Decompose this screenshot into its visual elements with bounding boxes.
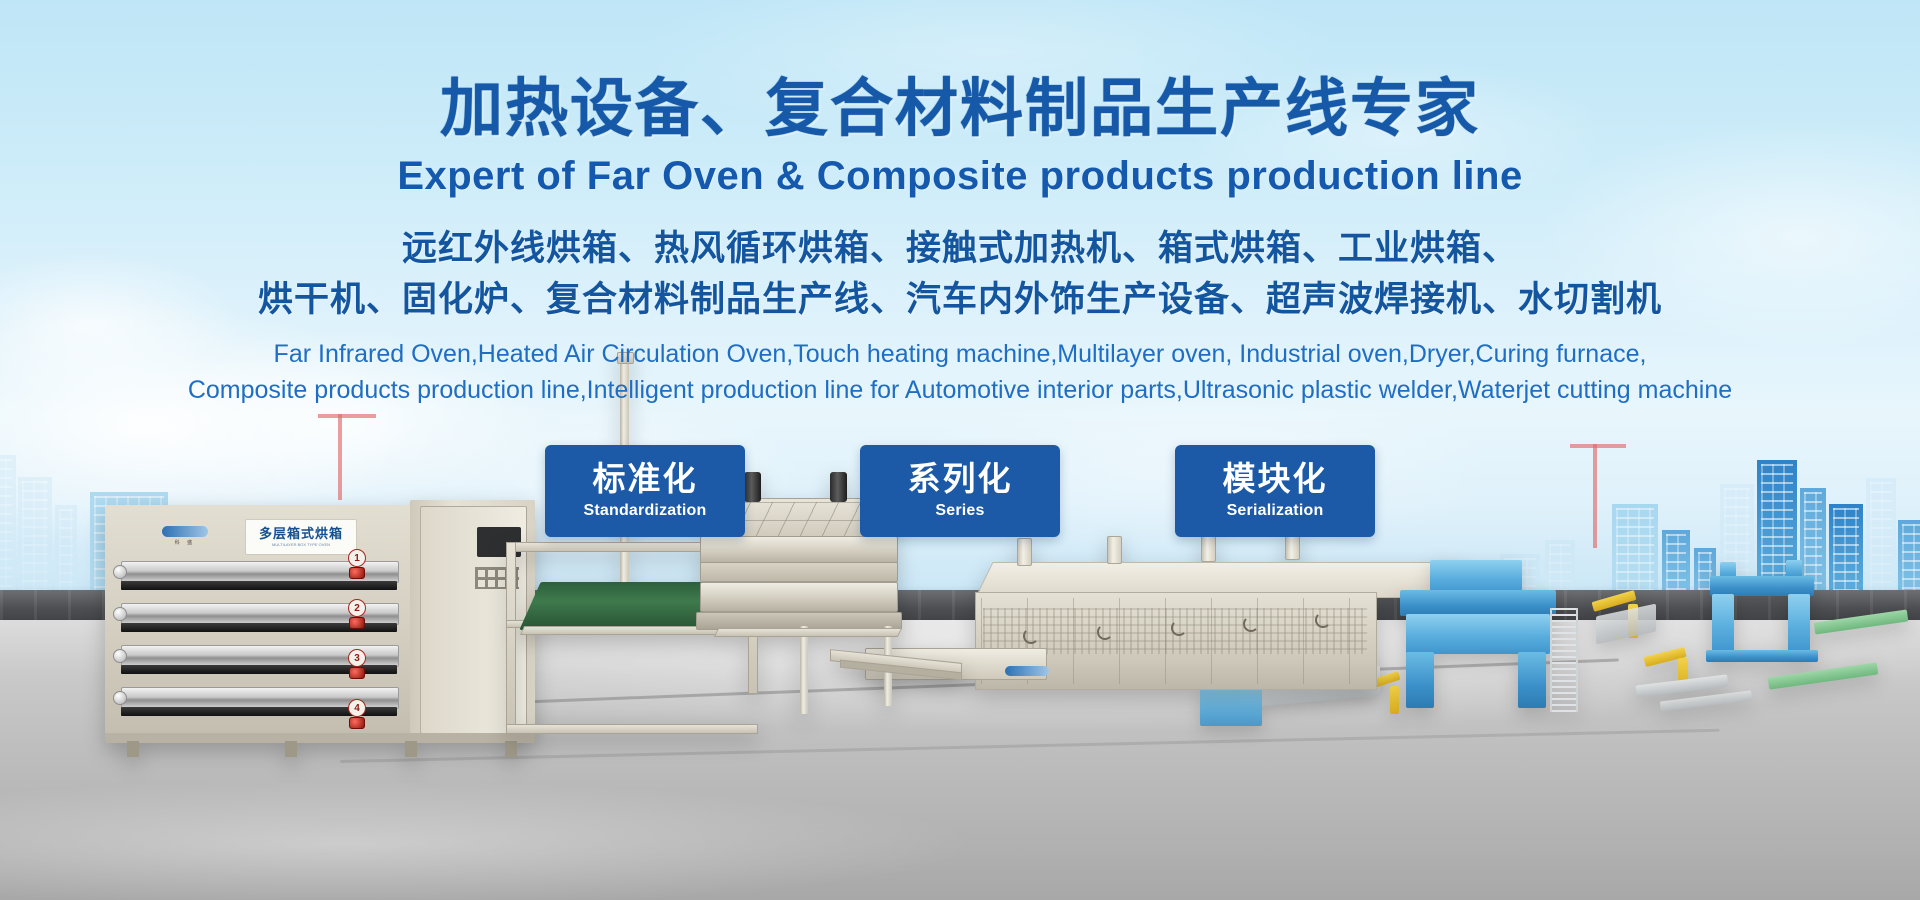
product-list-en-line-1: Far Infrared Oven,Heated Air Circulation… xyxy=(0,337,1920,373)
oven-base xyxy=(105,733,535,743)
feeder-rail xyxy=(1660,690,1753,711)
machine-blue-press-line xyxy=(1400,560,1920,760)
press-leg xyxy=(1518,652,1546,708)
oven-leg xyxy=(127,741,139,757)
indicator-number: 4 xyxy=(348,699,366,717)
press-cross-beam xyxy=(714,628,902,637)
page-title: 加热设备、复合材料制品生产线专家 xyxy=(0,78,1920,141)
badge-series[interactable]: 系列化 Series xyxy=(860,445,1060,537)
badge-serialization[interactable]: 模块化 Serialization xyxy=(1175,445,1375,537)
door-handle-icon xyxy=(1097,624,1113,640)
promo-banner: 加热设备、复合材料制品生产线专家 Expert of Far Oven & Co… xyxy=(0,0,1920,900)
oven-shelf-gap xyxy=(121,581,397,590)
feature-badge-group: 标准化 Standardization 系列化 Series 模块化 Seria… xyxy=(0,445,1920,537)
banner-text-block: 加热设备、复合材料制品生产线专家 Expert of Far Oven & Co… xyxy=(0,0,1920,408)
oven-leg xyxy=(285,741,297,757)
door-handle-icon xyxy=(1315,612,1331,628)
indicator-lamp xyxy=(349,667,365,679)
frame-column xyxy=(506,542,516,734)
badge-label-zh: 标准化 xyxy=(593,462,698,497)
tunnel-oven-brand-icon xyxy=(1005,666,1049,676)
badge-label-zh: 系列化 xyxy=(908,462,1013,497)
shelf-knob xyxy=(113,565,127,579)
badge-label-zh: 模块化 xyxy=(1223,462,1328,497)
green-conveyor xyxy=(1768,662,1879,689)
door-handle-icon xyxy=(1243,616,1259,632)
exhaust-stack xyxy=(1107,536,1122,564)
machine-multilayer-box-oven: 科 盛 多层箱式烘箱 MULTILAYER BOX TYPE OVEN 1 2 … xyxy=(105,505,535,745)
product-list-zh-line-2: 烘干机、固化炉、复合材料制品生产线、汽车内外饰生产设备、超声波焊接机、水切割机 xyxy=(0,274,1920,325)
oven-leg xyxy=(505,741,517,757)
badge-label-en: Serialization xyxy=(1227,502,1324,520)
oven-brand-name: 科 盛 xyxy=(175,539,195,546)
press-top-plate xyxy=(1400,590,1556,616)
indicator-lamp xyxy=(349,567,365,579)
product-list-en-line-2: Composite products production line,Intel… xyxy=(0,373,1920,409)
shelf-knob xyxy=(113,607,127,621)
crane-icon xyxy=(318,414,376,418)
press-leg xyxy=(800,626,808,714)
badge-label-en: Standardization xyxy=(583,502,706,520)
green-conveyor xyxy=(1814,610,1909,635)
press-platen-upper xyxy=(700,536,898,564)
badge-label-en: Series xyxy=(935,502,984,520)
door-handle-icon xyxy=(1171,620,1187,636)
shelf-knob xyxy=(113,691,127,705)
exhaust-stack xyxy=(1201,534,1216,562)
door-handle-icon xyxy=(1023,628,1039,644)
shelf-knob xyxy=(113,649,127,663)
indicator-number: 2 xyxy=(348,599,366,617)
machine-tunnel-oven xyxy=(975,562,1445,742)
badge-standardization[interactable]: 标准化 Standardization xyxy=(545,445,745,537)
press-body xyxy=(1406,614,1550,654)
product-list-zh-line-1: 远红外线烘箱、热风循环烘箱、接触式加热机、箱式烘箱、工业烘箱、 xyxy=(0,223,1920,274)
indicator-lamp xyxy=(349,717,365,729)
exhaust-stack xyxy=(1017,538,1032,566)
press-leg xyxy=(1406,652,1434,708)
page-subtitle: Expert of Far Oven & Composite products … xyxy=(0,155,1920,197)
indicator-lamp xyxy=(349,617,365,629)
press-platen-mid xyxy=(700,562,898,582)
oven-plate-subtitle: MULTILAYER BOX TYPE OVEN xyxy=(272,542,330,547)
indicator-number: 1 xyxy=(348,549,366,567)
transfer-table xyxy=(1596,604,1656,645)
indicator-number: 3 xyxy=(348,649,366,667)
oven-leg xyxy=(405,741,417,757)
access-ladder xyxy=(1550,608,1578,712)
frame-beam xyxy=(506,724,758,734)
gantry-leg xyxy=(1788,594,1810,654)
press-platen-lower xyxy=(700,582,898,612)
gantry-leg xyxy=(1712,594,1734,654)
gantry-beam xyxy=(1710,576,1814,596)
gantry-base xyxy=(1706,650,1818,662)
press-head xyxy=(1430,560,1522,594)
